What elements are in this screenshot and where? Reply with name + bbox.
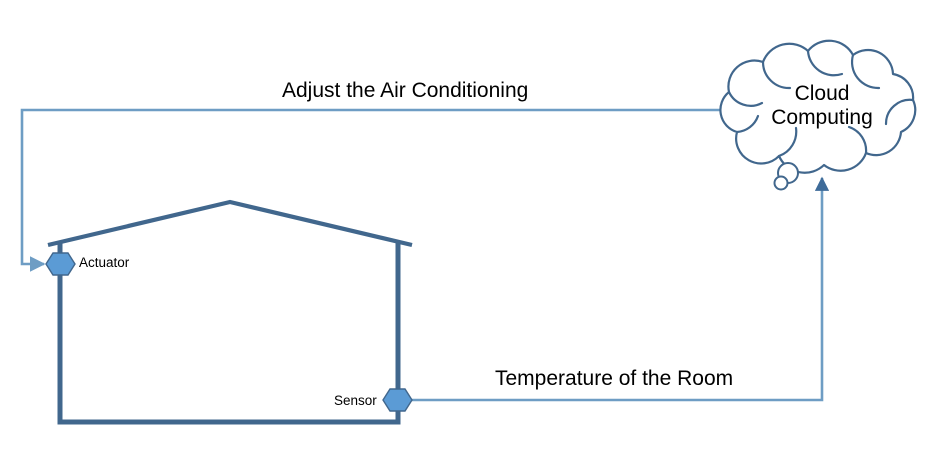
actuator-hexagon xyxy=(46,253,75,275)
sensor-hexagon xyxy=(383,389,412,411)
adjust-air-conditioning-label: Adjust the Air Conditioning xyxy=(282,79,528,103)
house xyxy=(48,202,412,422)
actuator-node[interactable] xyxy=(46,253,75,275)
cloud-bubble-small xyxy=(775,177,788,190)
cloud-label-line-2: Computing xyxy=(762,106,882,130)
diagram-canvas: Adjust the Air Conditioning Temperature … xyxy=(0,0,940,453)
cloud-computing-label: Cloud Computing xyxy=(762,82,882,130)
downlink-path xyxy=(22,110,722,264)
sensor-node[interactable] xyxy=(383,389,412,411)
house-roof xyxy=(48,202,412,245)
actuator-label: Actuator xyxy=(79,255,129,271)
cloud-label-line-1: Cloud xyxy=(762,82,882,106)
diagram-svg xyxy=(0,0,940,453)
adjust-air-conditioning-connector[interactable] xyxy=(22,110,722,264)
sensor-label: Sensor xyxy=(334,393,377,409)
temperature-of-the-room-label: Temperature of the Room xyxy=(495,367,733,391)
